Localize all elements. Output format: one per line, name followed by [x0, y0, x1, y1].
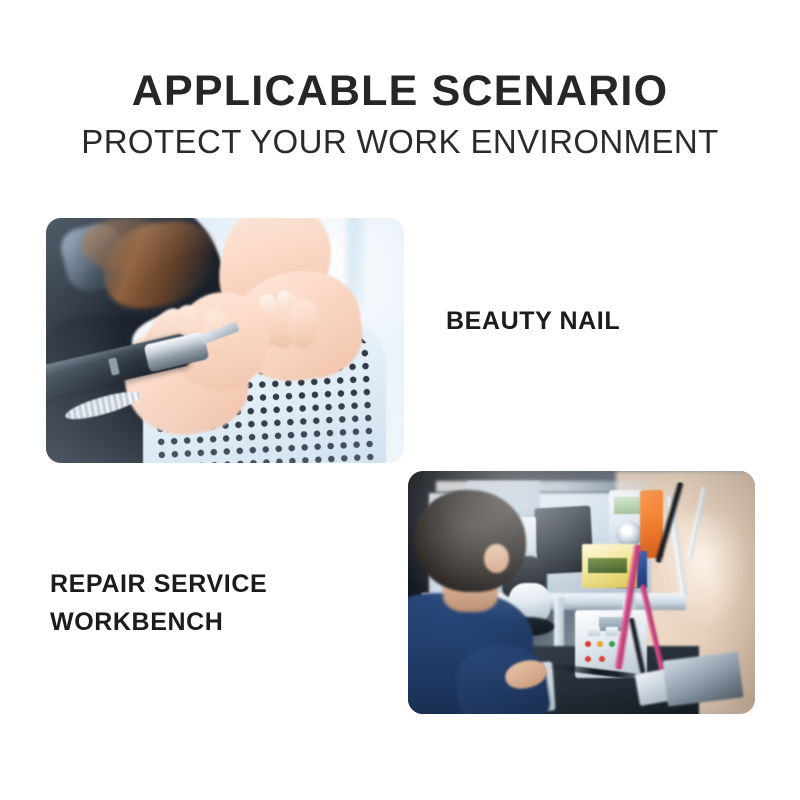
- page-title: APPLICABLE SCENARIO: [0, 66, 800, 116]
- repair-caption-line-2: WORKBENCH: [50, 603, 267, 641]
- workbench-vignette: [408, 471, 755, 714]
- header-block: APPLICABLE SCENARIO PROTECT YOUR WORK EN…: [0, 66, 800, 165]
- beauty-nail-caption: BEAUTY NAIL: [446, 306, 620, 336]
- repair-caption-line-1: REPAIR SERVICE: [50, 565, 267, 603]
- repair-workbench-scene: [408, 471, 755, 714]
- page-subtitle: PROTECT YOUR WORK ENVIRONMENT: [0, 119, 800, 165]
- beauty-nail-photo: [46, 218, 404, 463]
- repair-workbench-caption: REPAIR SERVICE WORKBENCH: [50, 565, 267, 641]
- salon-vignette: [46, 218, 404, 463]
- repair-workbench-photo: [408, 471, 755, 714]
- beauty-nail-scene: [46, 218, 404, 463]
